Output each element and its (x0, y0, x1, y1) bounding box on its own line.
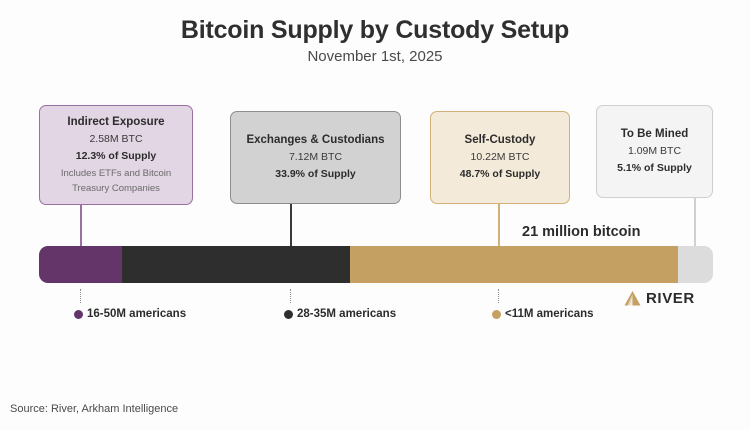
card-title: Self-Custody (465, 132, 536, 149)
card-btc-amount: 1.09M BTC (628, 143, 681, 160)
legend-dot-icon (492, 310, 501, 319)
connector-line-indirect-exposure (80, 205, 82, 249)
bar-segment (350, 246, 678, 283)
card-to-be-mined: To Be Mined 1.09M BTC 5.1% of Supply (596, 105, 713, 198)
legend-item-indirect-exposure: 16-50M americans (74, 308, 186, 320)
bar-segment (678, 246, 713, 283)
stacked-supply-bar (39, 246, 713, 283)
card-supply-percent: 5.1% of Supply (617, 160, 692, 177)
legend-leader-line (498, 289, 499, 303)
page-subtitle: November 1st, 2025 (0, 48, 750, 65)
river-wordmark: RIVER (646, 290, 695, 307)
legend-item-self-custody: <11M americans (492, 308, 594, 320)
legend-item-exchanges-custodians: 28-35M americans (284, 308, 396, 320)
card-supply-percent: 12.3% of Supply (76, 148, 157, 165)
legend-label: 16-50M americans (87, 308, 186, 320)
legend-leader-line (80, 289, 81, 303)
legend-dot-icon (74, 310, 83, 319)
card-supply-percent: 33.9% of Supply (275, 166, 356, 183)
card-exchanges-custodians: Exchanges & Custodians 7.12M BTC 33.9% o… (230, 111, 401, 204)
card-btc-amount: 7.12M BTC (289, 149, 342, 166)
card-supply-percent: 48.7% of Supply (460, 166, 541, 183)
total-supply-label: 21 million bitcoin (522, 224, 640, 240)
legend-label: <11M americans (505, 308, 594, 320)
card-note-line-1: Includes ETFs and Bitcoin (61, 166, 171, 181)
legend-dot-icon (284, 310, 293, 319)
connector-line-self-custody (498, 204, 500, 249)
connector-line-to-be-mined (694, 198, 696, 249)
mountain-icon (624, 291, 641, 306)
card-btc-amount: 10.22M BTC (471, 149, 530, 166)
card-btc-amount: 2.58M BTC (89, 131, 142, 148)
legend-leader-line (290, 289, 291, 303)
card-title: To Be Mined (621, 126, 689, 143)
connector-line-exchanges-custodians (290, 204, 292, 249)
infographic-canvas: Bitcoin Supply by Custody Setup November… (0, 0, 750, 430)
card-title: Indirect Exposure (67, 114, 164, 131)
source-caption: Source: River, Arkham Intelligence (10, 403, 178, 415)
page-title: Bitcoin Supply by Custody Setup (0, 16, 750, 45)
legend-label: 28-35M americans (297, 308, 396, 320)
card-indirect-exposure: Indirect Exposure 2.58M BTC 12.3% of Sup… (39, 105, 193, 205)
card-self-custody: Self-Custody 10.22M BTC 48.7% of Supply (430, 111, 570, 204)
bar-segment (122, 246, 350, 283)
river-logo: RIVER (624, 290, 695, 307)
card-note-line-2: Treasury Companies (72, 181, 160, 196)
bar-segment (39, 246, 122, 283)
card-title: Exchanges & Custodians (246, 132, 384, 149)
